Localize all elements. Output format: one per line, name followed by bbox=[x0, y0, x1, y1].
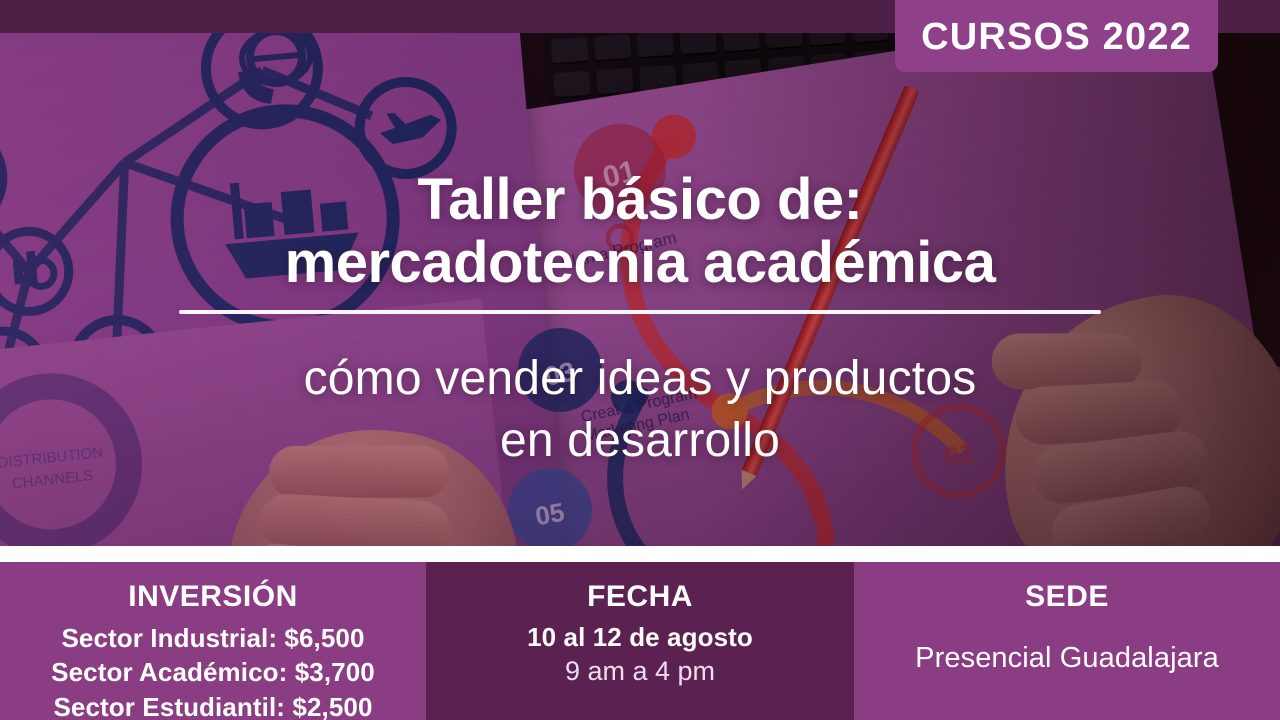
fecha-heading: FECHA bbox=[426, 580, 854, 613]
headline-block: Taller básico de: mercadotecnia académic… bbox=[0, 168, 1280, 314]
subtitle-block: cómo vender ideas y productos en desarro… bbox=[0, 348, 1280, 473]
info-bar: INVERSIÓN Sector Industrial: $6,500 Sect… bbox=[0, 562, 1280, 720]
subtitle-line-2: en desarrollo bbox=[110, 410, 1170, 472]
sede-spacer bbox=[854, 621, 1280, 639]
inversion-row-estudiantil: Sector Estudiantil: $2,500 bbox=[0, 690, 426, 720]
sede-place: Presencial Guadalajara bbox=[854, 639, 1280, 677]
info-column-fecha: FECHA 10 al 12 de agosto 9 am a 4 pm bbox=[426, 562, 854, 720]
sede-heading: SEDE bbox=[854, 580, 1280, 613]
title-divider bbox=[179, 310, 1101, 314]
inversion-row-academico: Sector Académico: $3,700 bbox=[0, 655, 426, 689]
cursos-badge: CURSOS 2022 bbox=[895, 0, 1218, 72]
fecha-date: 10 al 12 de agosto bbox=[426, 620, 854, 654]
subtitle-line-1: cómo vender ideas y productos bbox=[110, 348, 1170, 410]
info-column-inversion: INVERSIÓN Sector Industrial: $6,500 Sect… bbox=[0, 562, 426, 720]
cursos-badge-label: CURSOS 2022 bbox=[921, 18, 1192, 56]
fecha-time: 9 am a 4 pm bbox=[426, 654, 854, 689]
white-separator bbox=[0, 546, 1280, 562]
title-line-2: mercadotecnia académica bbox=[90, 231, 1190, 294]
inversion-row-industrial: Sector Industrial: $6,500 bbox=[0, 621, 426, 655]
title-line-1: Taller básico de: bbox=[90, 168, 1190, 231]
course-flyer: 02 04 bbox=[0, 0, 1280, 720]
info-column-sede: SEDE Presencial Guadalajara bbox=[854, 562, 1280, 720]
inversion-heading: INVERSIÓN bbox=[0, 580, 426, 613]
